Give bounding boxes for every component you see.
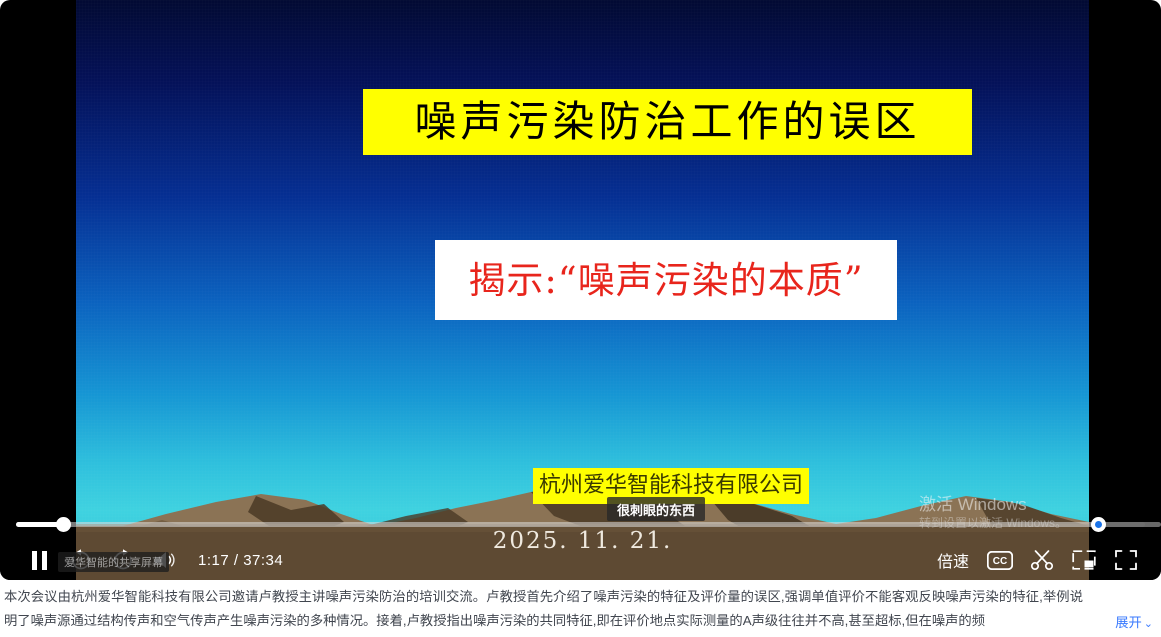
expand-description-button[interactable]: 展开⌄ [1109, 612, 1153, 635]
screen-share-watermark: 爱华智能的共享屏幕 [58, 552, 169, 572]
fullscreen-button[interactable] [1105, 540, 1147, 580]
svg-text:CC: CC [993, 556, 1007, 567]
chevron-down-icon: ⌄ [1144, 618, 1153, 630]
progress-bar[interactable] [16, 522, 1145, 527]
captions-button[interactable]: CC [979, 540, 1021, 580]
time-display: 1:17 / 37:34 [198, 552, 283, 569]
video-frame[interactable]: 噪声污染防治工作的误区 揭示:“噪声污染的本质” 杭州爱华智能科技有限公司 很刺… [76, 0, 1089, 580]
cc-icon: CC [987, 551, 1013, 570]
progress-tail-segment [1098, 522, 1161, 527]
picture-in-picture-button[interactable] [1063, 540, 1105, 580]
player-controls[interactable]: 爱华智能的共享屏幕 5 [0, 522, 1161, 580]
clip-button[interactable] [1021, 540, 1063, 580]
windows-activation-line1: 激活 Windows [919, 495, 1067, 515]
chapter-marker-dot[interactable] [1091, 517, 1106, 532]
pause-button[interactable] [18, 540, 60, 580]
video-player[interactable]: 噪声污染防治工作的误区 揭示:“噪声污染的本质” 杭州爱华智能科技有限公司 很刺… [0, 0, 1161, 580]
slide-subtitle-box: 揭示:“噪声污染的本质” [435, 240, 897, 320]
expand-label: 展开 [1115, 615, 1142, 630]
progress-thumb[interactable] [56, 517, 71, 532]
description-text: 本次会议由杭州爱华智能科技有限公司邀请卢教授主讲噪声污染防治的培训交流。卢教授首… [4, 585, 1157, 633]
slide-tooltip: 很刺眼的东西 [607, 497, 705, 521]
picture-in-picture-icon [1072, 550, 1096, 570]
fullscreen-icon [1115, 550, 1137, 570]
scissors-icon [1030, 549, 1054, 571]
slide-company-name: 杭州爱华智能科技有限公司 [539, 475, 803, 497]
playback-speed-button[interactable]: 倍速 [927, 548, 979, 572]
controls-right-group: 倍速 CC [927, 540, 1161, 580]
video-description: 本次会议由杭州爱华智能科技有限公司邀请卢教授主讲噪声污染防治的培训交流。卢教授首… [0, 585, 1161, 637]
slide-subtitle: 揭示:“噪声污染的本质” [468, 262, 863, 299]
pause-icon [31, 551, 48, 570]
slide-title-box: 噪声污染防治工作的误区 [363, 89, 972, 155]
video-player-page: 噪声污染防治工作的误区 揭示:“噪声污染的本质” 杭州爱华智能科技有限公司 很刺… [0, 0, 1161, 637]
slide-title: 噪声污染防治工作的误区 [414, 101, 920, 143]
